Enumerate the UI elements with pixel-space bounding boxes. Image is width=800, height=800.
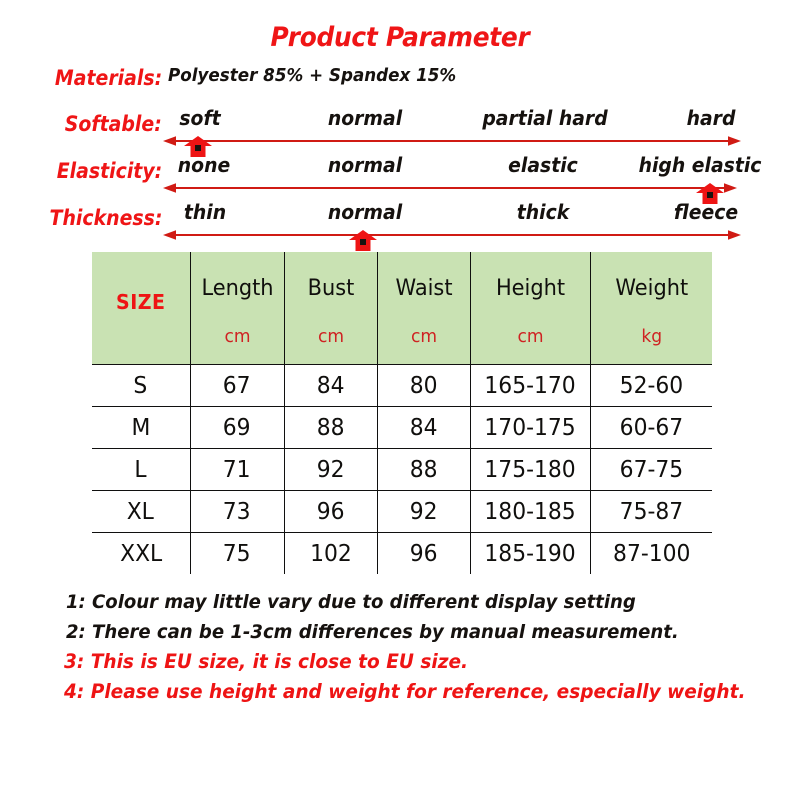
cell-bust: 102 (284, 533, 377, 575)
cell-size: S (92, 365, 190, 407)
softable-tick-2[interactable]: partial hard (482, 106, 607, 130)
elasticity-tick-3[interactable]: high elastic (639, 153, 762, 177)
table-header-row: SIZE Length cm Bust cm Waist cm Height c… (92, 252, 712, 365)
thickness-tick-3[interactable]: fleece (674, 200, 738, 224)
materials-label-box: Materials: (0, 62, 162, 90)
note-3: 3: This is EU size, it is close to EU si… (64, 647, 750, 677)
header-length: Length cm (190, 252, 284, 365)
header-weight-label: Weight (594, 252, 709, 301)
size-chart-table: SIZE Length cm Bust cm Waist cm Height c… (92, 252, 712, 574)
cell-waist: 96 (377, 533, 470, 575)
header-bust-unit: cm (287, 301, 374, 347)
scale-row-elasticity: Elasticity: none normal elastic high ela… (0, 153, 800, 207)
header-bust: Bust cm (284, 252, 377, 365)
elasticity-tick-1[interactable]: normal (328, 153, 402, 177)
header-length-unit: cm (193, 301, 281, 347)
thickness-axis-arrow (163, 228, 741, 242)
thickness-label-box: Thickness: (0, 200, 162, 230)
cell-length: 75 (190, 533, 284, 575)
cell-weight: 75-87 (590, 491, 712, 533)
cell-bust: 84 (284, 365, 377, 407)
softable-label: Softable: (65, 112, 162, 136)
softable-label-box: Softable: (0, 106, 162, 136)
table-row: L 71 92 88 175-180 67-75 (92, 449, 712, 491)
cell-size: M (92, 407, 190, 449)
thickness-tick-2[interactable]: thick (517, 200, 569, 224)
product-parameter-card: Product Parameter Materials: Polyester 8… (0, 0, 800, 800)
cell-waist: 84 (377, 407, 470, 449)
cell-waist: 92 (377, 491, 470, 533)
elasticity-axis-arrow (163, 181, 737, 195)
elasticity-tick-0[interactable]: none (178, 153, 230, 177)
header-height-label: Height (473, 252, 586, 301)
cell-bust: 88 (284, 407, 377, 449)
header-bust-label: Bust (287, 252, 374, 301)
cell-weight: 87-100 (590, 533, 712, 575)
softable-axis-arrow (163, 134, 741, 148)
table-row: XXL 75 102 96 185-190 87-100 (92, 533, 712, 575)
table-row: XL 73 96 92 180-185 75-87 (92, 491, 712, 533)
thickness-track[interactable]: thin normal thick fleece (163, 200, 800, 254)
scale-row-thickness: Thickness: thin normal thick fleece (0, 200, 800, 254)
elasticity-label: Elasticity: (56, 159, 162, 183)
cell-height: 165-170 (470, 365, 590, 407)
elasticity-tick-2[interactable]: elastic (508, 153, 578, 177)
cell-bust: 96 (284, 491, 377, 533)
cell-weight: 60-67 (590, 407, 712, 449)
cell-length: 67 (190, 365, 284, 407)
cell-bust: 92 (284, 449, 377, 491)
cell-size: L (92, 449, 190, 491)
softable-track[interactable]: soft normal partial hard hard (163, 106, 800, 160)
thickness-label: Thickness: (49, 206, 162, 230)
cell-length: 71 (190, 449, 284, 491)
notes-list: 1: Colour may little vary due to differe… (66, 588, 786, 706)
header-height-unit: cm (473, 301, 586, 347)
materials-row: Materials: Polyester 85% + Spandex 15% (0, 62, 800, 90)
cell-height: 170-175 (470, 407, 590, 449)
cell-length: 73 (190, 491, 284, 533)
elasticity-label-box: Elasticity: (0, 153, 162, 183)
note-1: 1: Colour may little vary due to differe… (66, 588, 750, 618)
elasticity-track[interactable]: none normal elastic high elastic (163, 153, 800, 207)
cell-weight: 67-75 (590, 449, 712, 491)
note-2: 2: There can be 1-3cm differences by man… (66, 618, 750, 648)
scale-row-softable: Softable: soft normal partial hard hard (0, 106, 800, 160)
table-row: S 67 84 80 165-170 52-60 (92, 365, 712, 407)
header-weight: Weight kg (590, 252, 712, 365)
header-size: SIZE (92, 252, 190, 365)
cell-waist: 88 (377, 449, 470, 491)
cell-waist: 80 (377, 365, 470, 407)
cell-size: XXL (92, 533, 190, 575)
cell-height: 175-180 (470, 449, 590, 491)
cell-size: XL (92, 491, 190, 533)
cell-weight: 52-60 (590, 365, 712, 407)
header-waist-unit: cm (380, 301, 467, 347)
header-waist: Waist cm (377, 252, 470, 365)
header-height: Height cm (470, 252, 590, 365)
header-length-label: Length (193, 252, 281, 301)
softable-tick-1[interactable]: normal (328, 106, 402, 130)
cell-height: 185-190 (470, 533, 590, 575)
materials-label: Materials: (55, 66, 162, 90)
page-title: Product Parameter (32, 22, 768, 53)
thickness-tick-1[interactable]: normal (328, 200, 402, 224)
softable-tick-3[interactable]: hard (687, 106, 736, 130)
note-4: 4: Please use height and weight for refe… (64, 677, 750, 707)
table-row: M 69 88 84 170-175 60-67 (92, 407, 712, 449)
materials-value: Polyester 85% + Spandex 15% (168, 65, 456, 86)
header-weight-unit: kg (594, 301, 709, 347)
header-size-label: SIZE (94, 252, 187, 314)
softable-tick-0[interactable]: soft (179, 106, 220, 130)
thickness-tick-0[interactable]: thin (184, 200, 226, 224)
header-waist-label: Waist (380, 252, 467, 301)
cell-height: 180-185 (470, 491, 590, 533)
cell-length: 69 (190, 407, 284, 449)
thickness-selected-marker[interactable] (348, 230, 378, 252)
